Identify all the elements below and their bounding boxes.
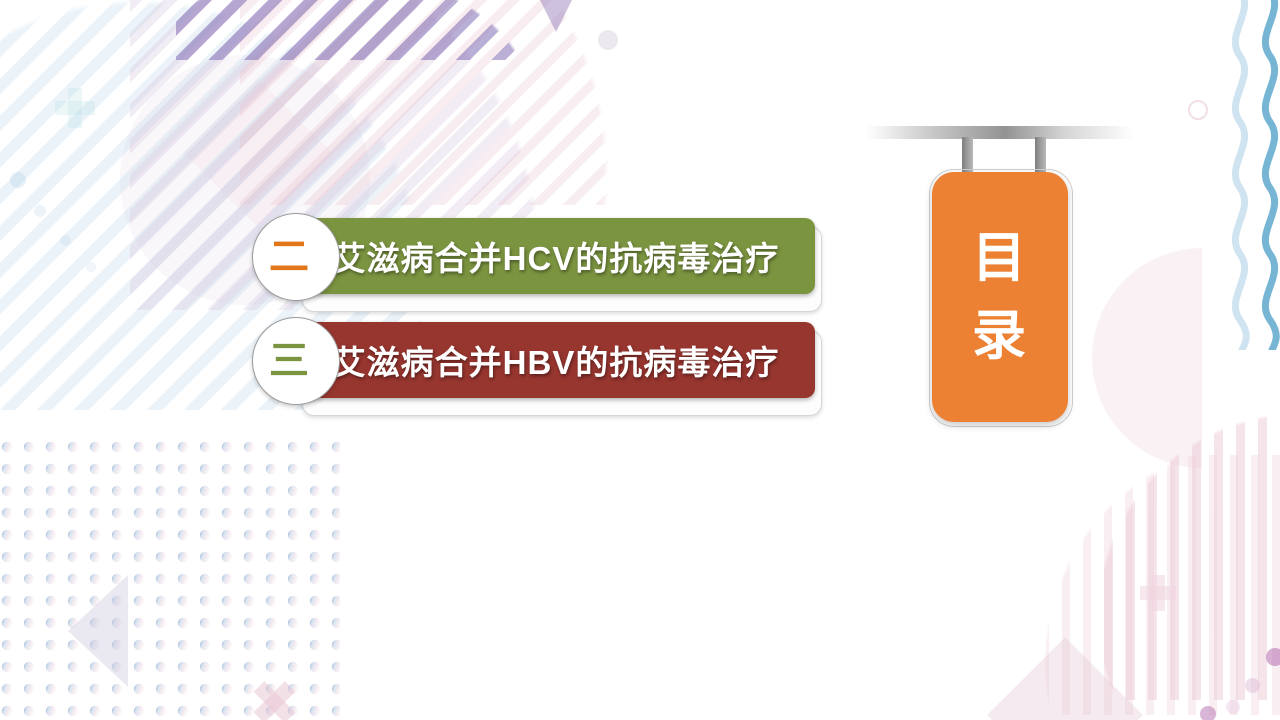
- toc-numeral-badge: 三: [252, 317, 340, 405]
- sign-char-1: 目: [972, 219, 1028, 297]
- slide-canvas: 艾滋病合并HCV的抗病毒治疗 二 艾滋病合并HBV的抗病毒治疗 三 目 录: [0, 0, 1280, 720]
- sign-hanging-rail: [866, 126, 1134, 139]
- blue-wave-lines-decor: [1216, 0, 1280, 350]
- bottom-right-pink-stripe-fan-2: [1020, 455, 1280, 715]
- bottom-right-pink-stripe-fan: [1060, 400, 1280, 700]
- table-of-contents-sign: 目 录: [932, 172, 1068, 422]
- top-left-pink-stripe-arc: [240, 0, 640, 205]
- pink-diamond-decor: [183, 78, 331, 226]
- toc-item-label: 艾滋病合并HBV的抗病毒治疗: [333, 336, 780, 384]
- teal-cross-icon: [55, 88, 95, 128]
- pink-cross-icon: [1140, 575, 1176, 611]
- blue-dot-decor: [34, 205, 46, 217]
- pink-x-icon: [252, 680, 296, 720]
- pink-ring-decor: [1188, 100, 1208, 120]
- purple-triangle-decor: [512, 0, 600, 32]
- top-left-strong-stripe-arc: [176, 0, 576, 60]
- toc-numeral-text: 三: [269, 341, 309, 381]
- purple-dot-decor: [1200, 706, 1216, 720]
- gray-dot-decor: [598, 30, 618, 50]
- purple-dot-decor: [1226, 700, 1240, 714]
- blue-dot-decor: [10, 172, 26, 188]
- blue-dot-decor: [60, 235, 71, 246]
- toc-numeral-text: 二: [269, 237, 309, 277]
- lavender-triangle-decor: [68, 575, 128, 687]
- bottom-left-dot-grid: [0, 440, 340, 720]
- pink-diamond-decor-2: [987, 637, 1143, 720]
- pink-half-circle-decor: [1092, 248, 1280, 468]
- toc-bar-body[interactable]: 艾滋病合并HCV的抗病毒治疗: [297, 218, 815, 294]
- sign-char-2: 录: [972, 297, 1028, 375]
- toc-item-label: 艾滋病合并HCV的抗病毒治疗: [333, 232, 780, 280]
- purple-dot-decor: [1266, 648, 1280, 666]
- toc-bar-body[interactable]: 艾滋病合并HBV的抗病毒治疗: [297, 322, 815, 398]
- purple-dot-decor: [1245, 678, 1260, 693]
- toc-numeral-badge: 二: [252, 213, 340, 301]
- blue-dot-decor: [86, 262, 96, 272]
